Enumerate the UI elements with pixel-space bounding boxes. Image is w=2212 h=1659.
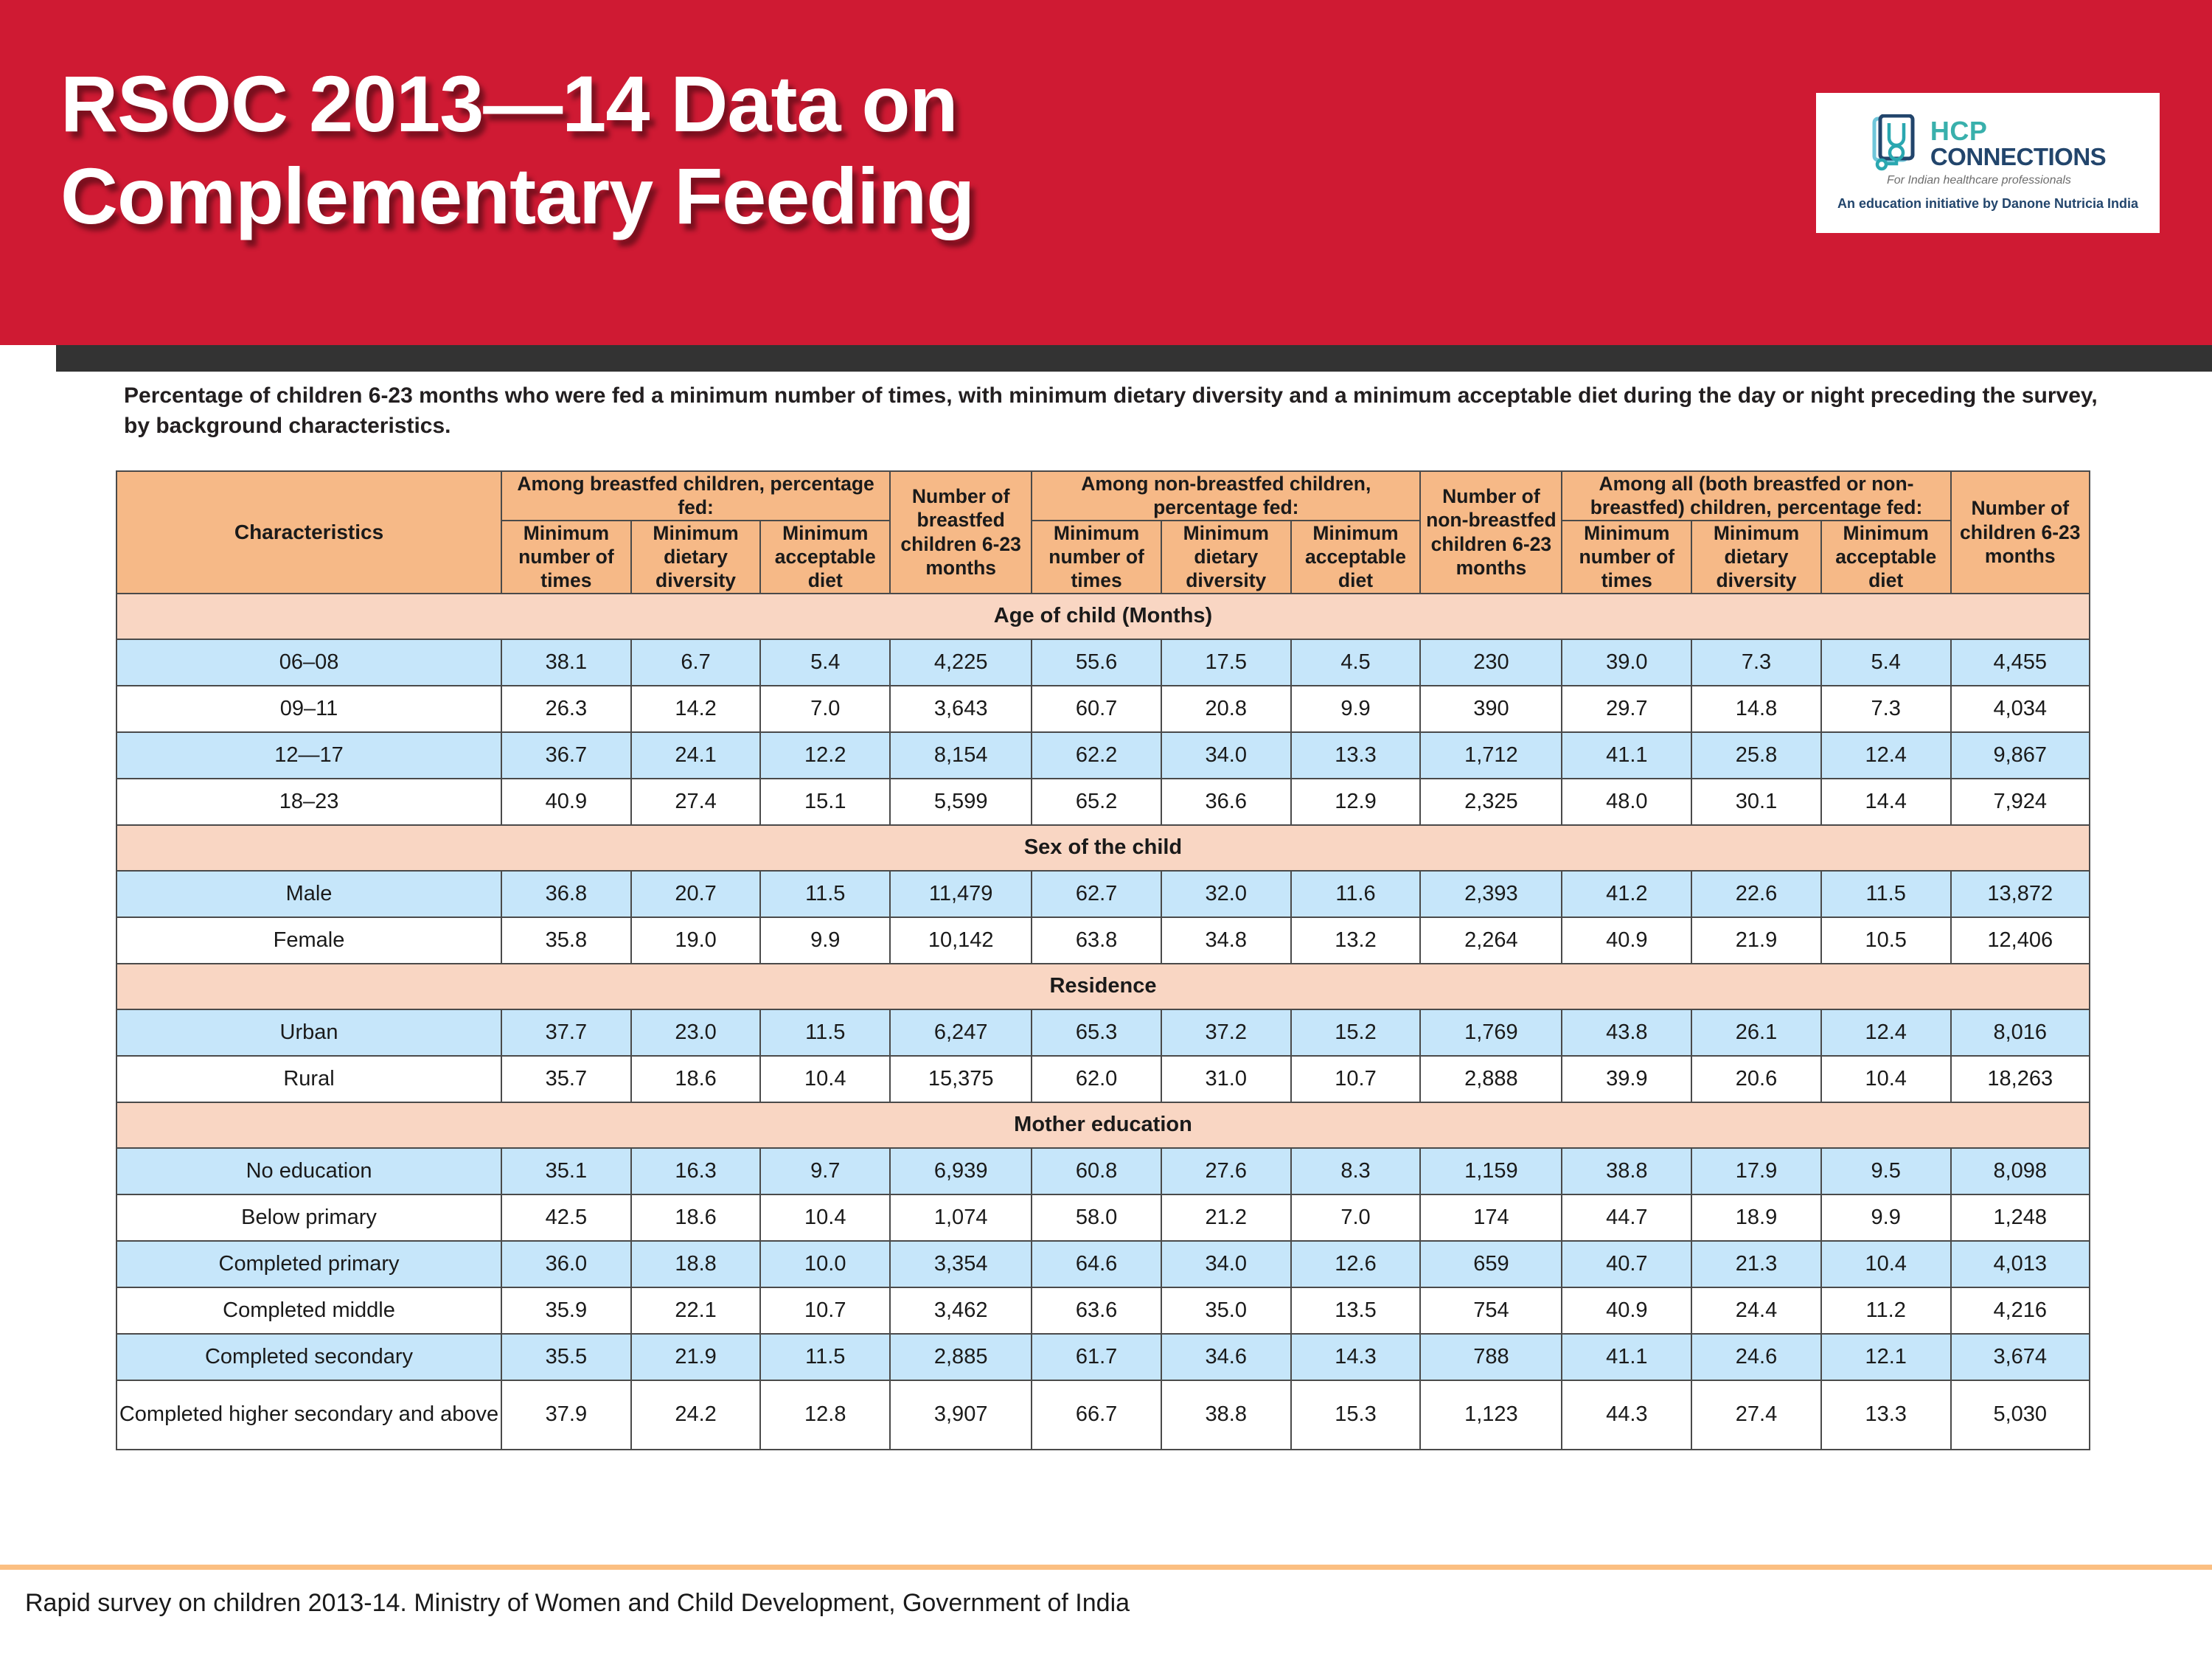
cell-value: 14.8 bbox=[1691, 686, 1821, 732]
col-number-non-breastfed: Number of non-breastfed children 6-23 mo… bbox=[1420, 471, 1562, 594]
cell-value: 4,216 bbox=[1951, 1287, 2090, 1334]
cell-value: 9.9 bbox=[1821, 1194, 1951, 1241]
cell-value: 43.8 bbox=[1562, 1009, 1691, 1056]
cell-value: 17.9 bbox=[1691, 1148, 1821, 1194]
cell-value: 7.0 bbox=[1291, 1194, 1421, 1241]
cell-value: 39.9 bbox=[1562, 1056, 1691, 1102]
table-row: Below primary42.518.610.41,07458.021.27.… bbox=[116, 1194, 2090, 1241]
section-header-row: Residence bbox=[116, 964, 2090, 1009]
table-row: 12—1736.724.112.28,15462.234.013.31,7124… bbox=[116, 732, 2090, 779]
table-head: Characteristics Among breastfed children… bbox=[116, 471, 2090, 594]
cell-value: 35.0 bbox=[1161, 1287, 1291, 1334]
cell-value: 390 bbox=[1420, 686, 1562, 732]
cell-value: 38.1 bbox=[501, 639, 631, 686]
cell-value: 14.2 bbox=[631, 686, 761, 732]
cell-value: 58.0 bbox=[1032, 1194, 1161, 1241]
cell-value: 35.1 bbox=[501, 1148, 631, 1194]
cell-value: 9.5 bbox=[1821, 1148, 1951, 1194]
cell-value: 37.7 bbox=[501, 1009, 631, 1056]
cell-value: 3,354 bbox=[890, 1241, 1032, 1287]
cell-value: 12.9 bbox=[1291, 779, 1421, 825]
cell-value: 40.7 bbox=[1562, 1241, 1691, 1287]
cell-value: 64.6 bbox=[1032, 1241, 1161, 1287]
cell-value: 4,013 bbox=[1951, 1241, 2090, 1287]
cell-value: 788 bbox=[1420, 1334, 1562, 1380]
cell-value: 11,479 bbox=[890, 871, 1032, 917]
cell-value: 5,030 bbox=[1951, 1380, 2090, 1450]
cell-value: 18.9 bbox=[1691, 1194, 1821, 1241]
cell-value: 15,375 bbox=[890, 1056, 1032, 1102]
col-nbf-min-times: Minimum number of times bbox=[1032, 521, 1161, 594]
cell-value: 13.3 bbox=[1291, 732, 1421, 779]
cell-value: 1,712 bbox=[1420, 732, 1562, 779]
cell-value: 34.8 bbox=[1161, 917, 1291, 964]
cell-value: 6,939 bbox=[890, 1148, 1032, 1194]
cell-value: 36.6 bbox=[1161, 779, 1291, 825]
cell-value: 10.7 bbox=[760, 1287, 890, 1334]
cell-value: 15.2 bbox=[1291, 1009, 1421, 1056]
cell-value: 38.8 bbox=[1161, 1380, 1291, 1450]
cell-value: 2,325 bbox=[1420, 779, 1562, 825]
cell-value: 21.9 bbox=[631, 1334, 761, 1380]
row-label: 06–08 bbox=[116, 639, 501, 686]
logo-wordmark: HCP CONNECTIONS bbox=[1930, 118, 2106, 169]
logo-lockup: HCP CONNECTIONS bbox=[1870, 114, 2106, 172]
col-nbf-min-diversity: Minimum dietary diversity bbox=[1161, 521, 1291, 594]
col-all-min-diversity: Minimum dietary diversity bbox=[1691, 521, 1821, 594]
cell-value: 62.2 bbox=[1032, 732, 1161, 779]
cell-value: 62.0 bbox=[1032, 1056, 1161, 1102]
cell-value: 35.9 bbox=[501, 1287, 631, 1334]
cell-value: 5.4 bbox=[760, 639, 890, 686]
cell-value: 2,888 bbox=[1420, 1056, 1562, 1102]
cell-value: 37.9 bbox=[501, 1380, 631, 1450]
cell-value: 44.7 bbox=[1562, 1194, 1691, 1241]
cell-value: 1,074 bbox=[890, 1194, 1032, 1241]
cell-value: 11.5 bbox=[1821, 871, 1951, 917]
cell-value: 65.3 bbox=[1032, 1009, 1161, 1056]
section-title: Age of child (Months) bbox=[116, 594, 2090, 639]
cell-value: 31.0 bbox=[1161, 1056, 1291, 1102]
cell-value: 12.8 bbox=[760, 1380, 890, 1450]
cell-value: 32.0 bbox=[1161, 871, 1291, 917]
section-header-row: Sex of the child bbox=[116, 825, 2090, 871]
cell-value: 18,263 bbox=[1951, 1056, 2090, 1102]
cell-value: 13.2 bbox=[1291, 917, 1421, 964]
row-label: Female bbox=[116, 917, 501, 964]
cell-value: 12.4 bbox=[1821, 732, 1951, 779]
cell-value: 14.4 bbox=[1821, 779, 1951, 825]
cell-value: 35.7 bbox=[501, 1056, 631, 1102]
cell-value: 754 bbox=[1420, 1287, 1562, 1334]
cell-value: 42.5 bbox=[501, 1194, 631, 1241]
cell-value: 27.4 bbox=[1691, 1380, 1821, 1450]
cell-value: 25.8 bbox=[1691, 732, 1821, 779]
cell-value: 1,159 bbox=[1420, 1148, 1562, 1194]
cell-value: 10.5 bbox=[1821, 917, 1951, 964]
table-row: Completed primary36.018.810.03,35464.634… bbox=[116, 1241, 2090, 1287]
col-bf-min-diversity: Minimum dietary diversity bbox=[631, 521, 761, 594]
cell-value: 12.6 bbox=[1291, 1241, 1421, 1287]
cell-value: 66.7 bbox=[1032, 1380, 1161, 1450]
col-number-breastfed: Number of breastfed children 6-23 months bbox=[890, 471, 1032, 594]
section-title: Sex of the child bbox=[116, 825, 2090, 871]
cell-value: 48.0 bbox=[1562, 779, 1691, 825]
table-body: Age of child (Months)06–0838.16.75.44,22… bbox=[116, 594, 2090, 1450]
table-row: Completed secondary35.521.911.52,88561.7… bbox=[116, 1334, 2090, 1380]
cell-value: 13.5 bbox=[1291, 1287, 1421, 1334]
cell-value: 11.5 bbox=[760, 1334, 890, 1380]
row-label: 09–11 bbox=[116, 686, 501, 732]
cell-value: 8,154 bbox=[890, 732, 1032, 779]
cell-value: 9,867 bbox=[1951, 732, 2090, 779]
group-non-breastfed: Among non-breastfed children, percentage… bbox=[1032, 471, 1420, 521]
col-bf-min-times: Minimum number of times bbox=[501, 521, 631, 594]
table-row: 09–1126.314.27.03,64360.720.89.939029.71… bbox=[116, 686, 2090, 732]
col-nbf-min-acceptable: Minimum acceptable diet bbox=[1291, 521, 1421, 594]
cell-value: 18.6 bbox=[631, 1194, 761, 1241]
section-header-row: Mother education bbox=[116, 1102, 2090, 1148]
cell-value: 3,643 bbox=[890, 686, 1032, 732]
cell-value: 34.0 bbox=[1161, 1241, 1291, 1287]
cell-value: 40.9 bbox=[501, 779, 631, 825]
cell-value: 8,098 bbox=[1951, 1148, 2090, 1194]
cell-value: 3,907 bbox=[890, 1380, 1032, 1450]
cell-value: 659 bbox=[1420, 1241, 1562, 1287]
cell-value: 174 bbox=[1420, 1194, 1562, 1241]
cell-value: 19.0 bbox=[631, 917, 761, 964]
cell-value: 26.3 bbox=[501, 686, 631, 732]
cell-value: 41.1 bbox=[1562, 1334, 1691, 1380]
cell-value: 6.7 bbox=[631, 639, 761, 686]
footer-divider bbox=[0, 1565, 2212, 1570]
cell-value: 21.3 bbox=[1691, 1241, 1821, 1287]
cell-value: 16.3 bbox=[631, 1148, 761, 1194]
table-row: Female35.819.09.910,14263.834.813.22,264… bbox=[116, 917, 2090, 964]
cell-value: 230 bbox=[1420, 639, 1562, 686]
cell-value: 22.1 bbox=[631, 1287, 761, 1334]
col-all-min-times: Minimum number of times bbox=[1562, 521, 1691, 594]
cell-value: 20.6 bbox=[1691, 1056, 1821, 1102]
cell-value: 9.9 bbox=[760, 917, 890, 964]
cell-value: 6,247 bbox=[890, 1009, 1032, 1056]
cell-value: 55.6 bbox=[1032, 639, 1161, 686]
row-label: No education bbox=[116, 1148, 501, 1194]
cell-value: 24.2 bbox=[631, 1380, 761, 1450]
cell-value: 38.8 bbox=[1562, 1148, 1691, 1194]
cell-value: 1,123 bbox=[1420, 1380, 1562, 1450]
tablet-stethoscope-icon bbox=[1870, 114, 1923, 172]
cell-value: 30.1 bbox=[1691, 779, 1821, 825]
cell-value: 7.3 bbox=[1691, 639, 1821, 686]
cell-value: 3,462 bbox=[890, 1287, 1032, 1334]
cell-value: 10,142 bbox=[890, 917, 1032, 964]
cell-value: 27.4 bbox=[631, 779, 761, 825]
cell-value: 36.7 bbox=[501, 732, 631, 779]
cell-value: 35.8 bbox=[501, 917, 631, 964]
cell-value: 35.5 bbox=[501, 1334, 631, 1380]
logo-tagline: For Indian healthcare professionals bbox=[1887, 174, 2071, 187]
col-number-all-children: Number of children 6-23 months bbox=[1951, 471, 2090, 594]
row-label: Below primary bbox=[116, 1194, 501, 1241]
cell-value: 61.7 bbox=[1032, 1334, 1161, 1380]
cell-value: 8.3 bbox=[1291, 1148, 1421, 1194]
cell-value: 10.4 bbox=[760, 1056, 890, 1102]
cell-value: 63.8 bbox=[1032, 917, 1161, 964]
cell-value: 41.2 bbox=[1562, 871, 1691, 917]
cell-value: 18.6 bbox=[631, 1056, 761, 1102]
cell-value: 4.5 bbox=[1291, 639, 1421, 686]
cell-value: 2,393 bbox=[1420, 871, 1562, 917]
cell-value: 40.9 bbox=[1562, 917, 1691, 964]
cell-value: 9.9 bbox=[1291, 686, 1421, 732]
cell-value: 12.1 bbox=[1821, 1334, 1951, 1380]
section-title: Residence bbox=[116, 964, 2090, 1009]
cell-value: 12.4 bbox=[1821, 1009, 1951, 1056]
section-header-row: Age of child (Months) bbox=[116, 594, 2090, 639]
cell-value: 5,599 bbox=[890, 779, 1032, 825]
logo-initiative-line: An education initiative by Danone Nutric… bbox=[1837, 196, 2138, 212]
table-row: Completed higher secondary and above37.9… bbox=[116, 1380, 2090, 1450]
table-row: Male36.820.711.511,47962.732.011.62,3934… bbox=[116, 871, 2090, 917]
cell-value: 10.7 bbox=[1291, 1056, 1421, 1102]
cell-value: 39.0 bbox=[1562, 639, 1691, 686]
cell-value: 13.3 bbox=[1821, 1380, 1951, 1450]
table-caption: Percentage of children 6-23 months who w… bbox=[124, 380, 2115, 442]
row-label: Male bbox=[116, 871, 501, 917]
cell-value: 3,674 bbox=[1951, 1334, 2090, 1380]
cell-value: 12,406 bbox=[1951, 917, 2090, 964]
col-characteristics: Characteristics bbox=[116, 471, 501, 594]
cell-value: 26.1 bbox=[1691, 1009, 1821, 1056]
cell-value: 17.5 bbox=[1161, 639, 1291, 686]
hcp-connections-logo: HCP CONNECTIONS For Indian healthcare pr… bbox=[1816, 93, 2160, 233]
row-label: Completed higher secondary and above bbox=[116, 1380, 501, 1450]
cell-value: 7.3 bbox=[1821, 686, 1951, 732]
cell-value: 62.7 bbox=[1032, 871, 1161, 917]
cell-value: 24.6 bbox=[1691, 1334, 1821, 1380]
cell-value: 9.7 bbox=[760, 1148, 890, 1194]
cell-value: 13,872 bbox=[1951, 871, 2090, 917]
cell-value: 4,034 bbox=[1951, 686, 2090, 732]
group-all-children: Among all (both breastfed or non-breastf… bbox=[1562, 471, 1950, 521]
cell-value: 11.6 bbox=[1291, 871, 1421, 917]
cell-value: 60.8 bbox=[1032, 1148, 1161, 1194]
table-row: Urban37.723.011.56,24765.337.215.21,7694… bbox=[116, 1009, 2090, 1056]
cell-value: 27.6 bbox=[1161, 1148, 1291, 1194]
cell-value: 20.8 bbox=[1161, 686, 1291, 732]
cell-value: 24.1 bbox=[631, 732, 761, 779]
col-all-min-acceptable: Minimum acceptable diet bbox=[1821, 521, 1951, 594]
table-row: Completed middle35.922.110.73,46263.635.… bbox=[116, 1287, 2090, 1334]
cell-value: 4,455 bbox=[1951, 639, 2090, 686]
cell-value: 44.3 bbox=[1562, 1380, 1691, 1450]
col-bf-min-acceptable: Minimum acceptable diet bbox=[760, 521, 890, 594]
cell-value: 36.0 bbox=[501, 1241, 631, 1287]
cell-value: 4,225 bbox=[890, 639, 1032, 686]
cell-value: 21.2 bbox=[1161, 1194, 1291, 1241]
cell-value: 29.7 bbox=[1562, 686, 1691, 732]
logo-connections-text: CONNECTIONS bbox=[1930, 145, 2106, 169]
table-row: No education35.116.39.76,93960.827.68.31… bbox=[116, 1148, 2090, 1194]
table-row: Rural35.718.610.415,37562.031.010.72,888… bbox=[116, 1056, 2090, 1102]
source-note: Rapid survey on children 2013-14. Minist… bbox=[25, 1589, 1130, 1618]
cell-value: 11.5 bbox=[760, 871, 890, 917]
cell-value: 5.4 bbox=[1821, 639, 1951, 686]
row-label: Completed primary bbox=[116, 1241, 501, 1287]
header-group-row: Characteristics Among breastfed children… bbox=[116, 471, 2090, 521]
cell-value: 10.0 bbox=[760, 1241, 890, 1287]
cell-value: 12.2 bbox=[760, 732, 890, 779]
cell-value: 15.1 bbox=[760, 779, 890, 825]
cell-value: 1,769 bbox=[1420, 1009, 1562, 1056]
page-title: RSOC 2013—14 Data on Complementary Feedi… bbox=[60, 58, 1683, 243]
cell-value: 24.4 bbox=[1691, 1287, 1821, 1334]
row-label: 12—17 bbox=[116, 732, 501, 779]
cell-value: 65.2 bbox=[1032, 779, 1161, 825]
cell-value: 10.4 bbox=[1821, 1241, 1951, 1287]
cell-value: 8,016 bbox=[1951, 1009, 2090, 1056]
row-label: Completed secondary bbox=[116, 1334, 501, 1380]
cell-value: 1,248 bbox=[1951, 1194, 2090, 1241]
cell-value: 11.5 bbox=[760, 1009, 890, 1056]
row-label: Urban bbox=[116, 1009, 501, 1056]
cell-value: 20.7 bbox=[631, 871, 761, 917]
row-label: Rural bbox=[116, 1056, 501, 1102]
logo-hcp-text: HCP bbox=[1930, 118, 2106, 145]
cell-value: 60.7 bbox=[1032, 686, 1161, 732]
cell-value: 15.3 bbox=[1291, 1380, 1421, 1450]
cell-value: 34.0 bbox=[1161, 732, 1291, 779]
row-label: 18–23 bbox=[116, 779, 501, 825]
cell-value: 34.6 bbox=[1161, 1334, 1291, 1380]
cell-value: 14.3 bbox=[1291, 1334, 1421, 1380]
cell-value: 63.6 bbox=[1032, 1287, 1161, 1334]
title-banner-shadow bbox=[56, 345, 2212, 372]
table-row: 06–0838.16.75.44,22555.617.54.523039.07.… bbox=[116, 639, 2090, 686]
section-title: Mother education bbox=[116, 1102, 2090, 1148]
cell-value: 7.0 bbox=[760, 686, 890, 732]
cell-value: 23.0 bbox=[631, 1009, 761, 1056]
cell-value: 37.2 bbox=[1161, 1009, 1291, 1056]
complementary-feeding-table: Characteristics Among breastfed children… bbox=[116, 470, 2090, 1450]
cell-value: 41.1 bbox=[1562, 732, 1691, 779]
cell-value: 22.6 bbox=[1691, 871, 1821, 917]
group-breastfed: Among breastfed children, percentage fed… bbox=[501, 471, 890, 521]
cell-value: 21.9 bbox=[1691, 917, 1821, 964]
cell-value: 40.9 bbox=[1562, 1287, 1691, 1334]
cell-value: 7,924 bbox=[1951, 779, 2090, 825]
cell-value: 10.4 bbox=[1821, 1056, 1951, 1102]
cell-value: 10.4 bbox=[760, 1194, 890, 1241]
cell-value: 11.2 bbox=[1821, 1287, 1951, 1334]
table-row: 18–2340.927.415.15,59965.236.612.92,3254… bbox=[116, 779, 2090, 825]
cell-value: 36.8 bbox=[501, 871, 631, 917]
cell-value: 18.8 bbox=[631, 1241, 761, 1287]
row-label: Completed middle bbox=[116, 1287, 501, 1334]
cell-value: 2,885 bbox=[890, 1334, 1032, 1380]
cell-value: 2,264 bbox=[1420, 917, 1562, 964]
